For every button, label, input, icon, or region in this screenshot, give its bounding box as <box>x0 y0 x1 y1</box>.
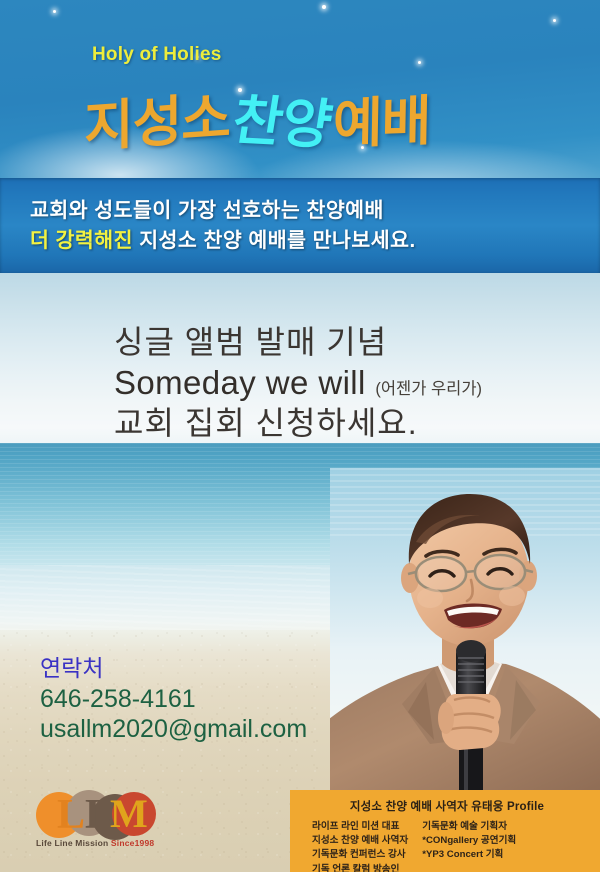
llm-logo: L L M Life Line Mission Since1998 <box>30 788 160 854</box>
logo-letter-l2: L <box>85 794 113 836</box>
contact-block: 연락처 646-258-4161 usallm2020@gmail.com <box>40 655 307 745</box>
profile-item: *YP3 Concert 기획 <box>422 848 516 862</box>
message-line-1: 싱글 앨범 발매 기념 <box>114 322 482 363</box>
star-decoration <box>53 10 56 13</box>
star-decoration <box>418 61 421 64</box>
message-line-2: Someday we will (어젠가 우리가) <box>114 363 482 403</box>
logo-letter-m: M <box>110 794 148 834</box>
highlight-banner: 교회와 성도들이 가장 선호하는 찬양예배 더 강력해진 지성소 찬양 예배를 … <box>0 178 600 273</box>
profile-title: 지성소 찬양 예배 사역자 유태웅 Profile <box>304 798 590 814</box>
banner-rest-text: 지성소 찬양 예배를 만나보세요. <box>133 229 416 252</box>
profile-item: 라이프 라인 미션 대표 <box>312 820 408 834</box>
eyebrow-text: Holy of Holies <box>92 44 221 66</box>
profile-column-left: 라이프 라인 미션 대표 지성소 찬양 예배 사역자 기독문화 컨퍼런스 강사 … <box>312 820 408 872</box>
profile-panel: 지성소 찬양 예배 사역자 유태웅 Profile 라이프 라인 미션 대표 지… <box>290 790 600 872</box>
contact-phone[interactable]: 646-258-4161 <box>40 684 307 715</box>
star-decoration <box>553 19 556 22</box>
title-part-chanyang: 찬양 <box>228 76 338 160</box>
logo-tagline-text: Life Line Mission <box>36 838 108 848</box>
message-translation: (어젠가 우리가) <box>375 380 482 398</box>
poster-root: Holy of Holies 지성소찬양예배 교회와 성도들이 가장 선호하는 … <box>0 0 600 872</box>
contact-label: 연락처 <box>40 655 307 683</box>
profile-column-right: 기독문화 예술 기획자 *CONgallery 공연기획 *YP3 Concer… <box>422 820 516 872</box>
profile-item: *CONgallery 공연기획 <box>422 834 516 848</box>
title-part-jisungso: 지성소 <box>84 73 230 162</box>
banner-highlight-text: 더 강력해진 <box>30 229 133 252</box>
profile-item: 지성소 찬양 예배 사역자 <box>312 834 408 848</box>
page-title: 지성소찬양예배 <box>84 78 431 157</box>
message-line-3: 교회 집회 신청하세요. <box>114 403 482 444</box>
profile-item: 기독문화 컨퍼런스 강사 <box>312 848 408 862</box>
profile-columns: 라이프 라인 미션 대표 지성소 찬양 예배 사역자 기독문화 컨퍼런스 강사 … <box>304 820 590 872</box>
logo-since-text: Since1998 <box>111 838 154 848</box>
main-message: 싱글 앨범 발매 기념 Someday we will (어젠가 우리가) 교회… <box>114 322 482 444</box>
message-english-title: Someday we will <box>114 364 366 401</box>
title-part-yebae: 예배 <box>333 76 432 158</box>
banner-line-2: 더 강력해진 지성소 찬양 예배를 만나보세요. <box>30 226 600 255</box>
banner-line-1: 교회와 성도들이 가장 선호하는 찬양예배 <box>30 196 600 225</box>
logo-letter-l1: L <box>57 794 85 836</box>
star-decoration <box>322 5 326 9</box>
profile-item: 기독 언론 칼럼 방송인 <box>312 863 408 872</box>
contact-email[interactable]: usallm2020@gmail.com <box>40 714 307 745</box>
profile-item: 기독문화 예술 기획자 <box>422 820 516 834</box>
logo-tagline: Life Line Mission Since1998 <box>36 838 154 848</box>
speaker-photo <box>330 468 600 798</box>
